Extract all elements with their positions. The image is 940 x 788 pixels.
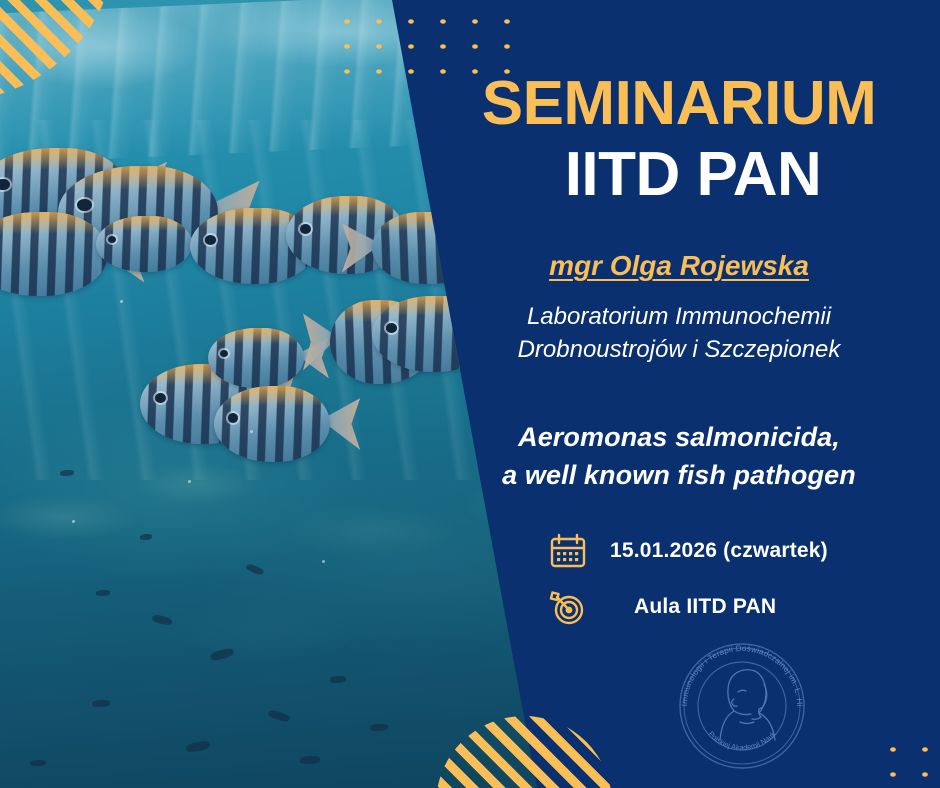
- seal-bottom-text: Polskiej Akademii Nauk: [707, 729, 778, 752]
- heading-line-iitd-pan: IITD PAN: [468, 143, 918, 206]
- small-fish: [370, 724, 388, 731]
- water-particle: [322, 560, 325, 563]
- fish-body: [214, 386, 330, 462]
- fish-body: [96, 216, 192, 272]
- small-fish: [300, 756, 320, 764]
- heading-line-seminarium: SEMINARIUM: [440, 72, 918, 135]
- institute-seal: Instytut Immunologii i Terapii Doświadcz…: [672, 636, 812, 776]
- small-fish: [92, 700, 110, 707]
- target-icon: [546, 585, 590, 629]
- fish: [96, 216, 192, 272]
- talk-title-line-1: Aeromonas salmonicida,: [440, 418, 918, 456]
- small-fish: [96, 590, 110, 596]
- affiliation-line-2: Drobnoustrojów i Szczepionek: [440, 333, 918, 366]
- fish: [214, 386, 330, 462]
- talk-title-line-2: a well known fish pathogen: [440, 456, 918, 494]
- affiliation-line-1: Laboratorium Immunochemii: [440, 300, 918, 333]
- event-details: 15.01.2026 (czwartek) Aula IITD PAN: [546, 528, 926, 630]
- small-fish: [60, 470, 74, 476]
- fish: [208, 328, 304, 388]
- talk-title: Aeromonas salmonicida, a well known fish…: [440, 418, 918, 495]
- fish-eye: [77, 199, 91, 211]
- speaker-affiliation: Laboratorium Immunochemii Drobnoustrojów…: [440, 300, 918, 366]
- event-detail-venue: Aula IITD PAN: [546, 584, 926, 630]
- water-particle: [120, 300, 123, 303]
- small-fish: [30, 760, 46, 766]
- small-fish: [140, 534, 152, 540]
- calendar-icon: [546, 529, 590, 573]
- seminar-poster: SEMINARIUM IITD PAN mgr Olga Rojewska La…: [0, 0, 940, 788]
- poster-content: SEMINARIUM IITD PAN mgr Olga Rojewska La…: [440, 0, 940, 788]
- speaker-name: mgr Olga Rojewska: [440, 250, 918, 282]
- poster-heading: SEMINARIUM IITD PAN: [440, 72, 918, 206]
- fish-eye: [155, 393, 166, 403]
- event-date-value: 15.01.2026 (czwartek): [610, 539, 828, 563]
- water-particle: [188, 480, 191, 483]
- fish-body: [0, 212, 108, 296]
- water-particle: [72, 520, 75, 523]
- event-venue-value: Aula IITD PAN: [634, 595, 776, 619]
- fish: [0, 212, 108, 296]
- water-particle: [250, 430, 253, 433]
- portrait-profile-icon: [720, 670, 775, 740]
- small-fish: [330, 676, 346, 683]
- fish-body: [208, 328, 304, 388]
- event-detail-date: 15.01.2026 (czwartek): [546, 528, 926, 574]
